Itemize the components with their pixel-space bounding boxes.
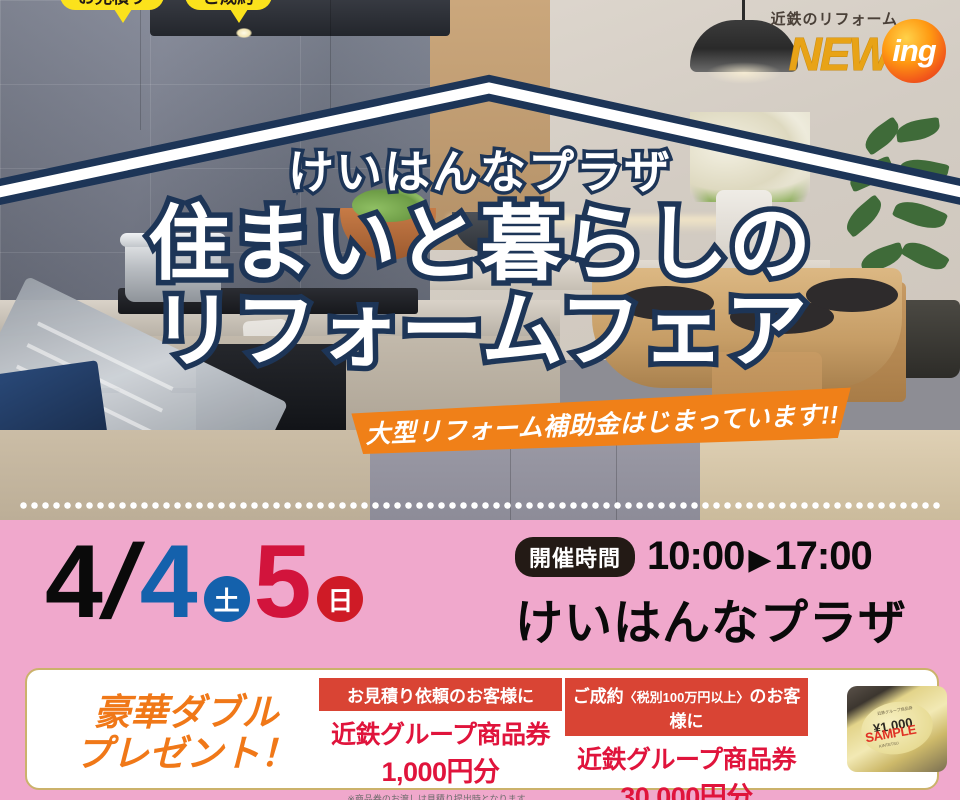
offer-contract-header-main: ご成約 [573,687,624,706]
hero-title: 住まいと暮らしの リフォームフェア [0,202,960,376]
time-arrow-icon: ▶ [748,543,770,576]
brand-logo-ing-text: ing [892,33,936,69]
offer-estimate-note1: ※商品券のお渡しは見積り提出時となります。 [319,792,562,800]
offer-contract-title: 近鉄グループ商品券 [565,740,808,776]
hero-title-line2: リフォームフェア [0,289,960,376]
offer-contract-header-small: 〈税別100万円以上〉 [624,690,750,705]
offer-contract: ご成約〈税別100万円以上〉のお客様に 近鉄グループ商品券 30,000円分 ※… [565,678,808,800]
event-venue: けいはんなプラザ [515,583,907,653]
time-end: 17:00 [774,534,871,578]
present-headline-line2: プレゼント！ [61,733,311,774]
bubble-contract: ご成約 [185,0,272,10]
hero-title-line1: 住まいと暮らしの [148,199,812,290]
present-headline-line1: 豪華ダブル [61,692,311,733]
brand-logo: 近鉄のリフォーム NEW ing [746,8,946,77]
offer-estimate-header: お見積り依頼のお客様に [319,678,562,711]
present-headline: 豪華ダブル プレゼント！ [61,692,311,775]
dotted-divider [18,502,942,509]
event-time-line: 開催時間 10:00▶17:00 [515,534,907,579]
hero-title-block: けいはんなプラザ 住まいと暮らしの リフォームフェア [0,148,960,376]
offer-estimate-amount: 1,000円分 [319,750,562,789]
time-start: 10:00 [647,534,744,578]
present-card: 豪華ダブル プレゼント！ お見積り依頼のお客様に 近鉄グループ商品券 1,000… [25,668,939,790]
time-range: 10:00▶17:00 [647,534,872,579]
brand-logo-main: NEW ing [746,29,946,77]
date-day-sunday: 5 [254,530,312,634]
offer-estimate: お見積り依頼のお客様に 近鉄グループ商品券 1,000円分 ※商品券のお渡しは見… [319,678,562,800]
date-month: 4 [45,530,103,634]
bubble-estimate: お見積り [60,0,164,10]
poster-root: けいはんなプラザ 住まいと暮らしの リフォームフェア 大型リフォーム補助金はじま… [0,0,960,800]
event-date-row: 4 / 4 土 5 日 [45,528,367,636]
offer-estimate-title: 近鉄グループ商品券 [319,715,562,751]
brand-logo-ing-circle-icon: ing [882,19,946,83]
brand-tagline: 近鉄のリフォーム [746,8,898,29]
event-info-column: 開催時間 10:00▶17:00 けいはんなプラザ [515,534,907,653]
date-day-saturday: 4 [140,530,198,634]
hero-venue-subtitle: けいはんなプラザ [0,148,960,196]
dow-badge-sunday: 日 [317,576,363,622]
dow-badge-saturday: 土 [204,576,250,622]
offer-contract-header: ご成約〈税別100万円以上〉のお客様に [565,678,808,736]
brand-logo-new-text: NEW [789,27,890,81]
gift-certificate-photo: 近鉄グループ商品券 ¥1,000 SAMPLE KINTETSU [847,686,947,772]
time-badge: 開催時間 [515,537,635,577]
offer-contract-amount: 30,000円分 [565,775,808,800]
